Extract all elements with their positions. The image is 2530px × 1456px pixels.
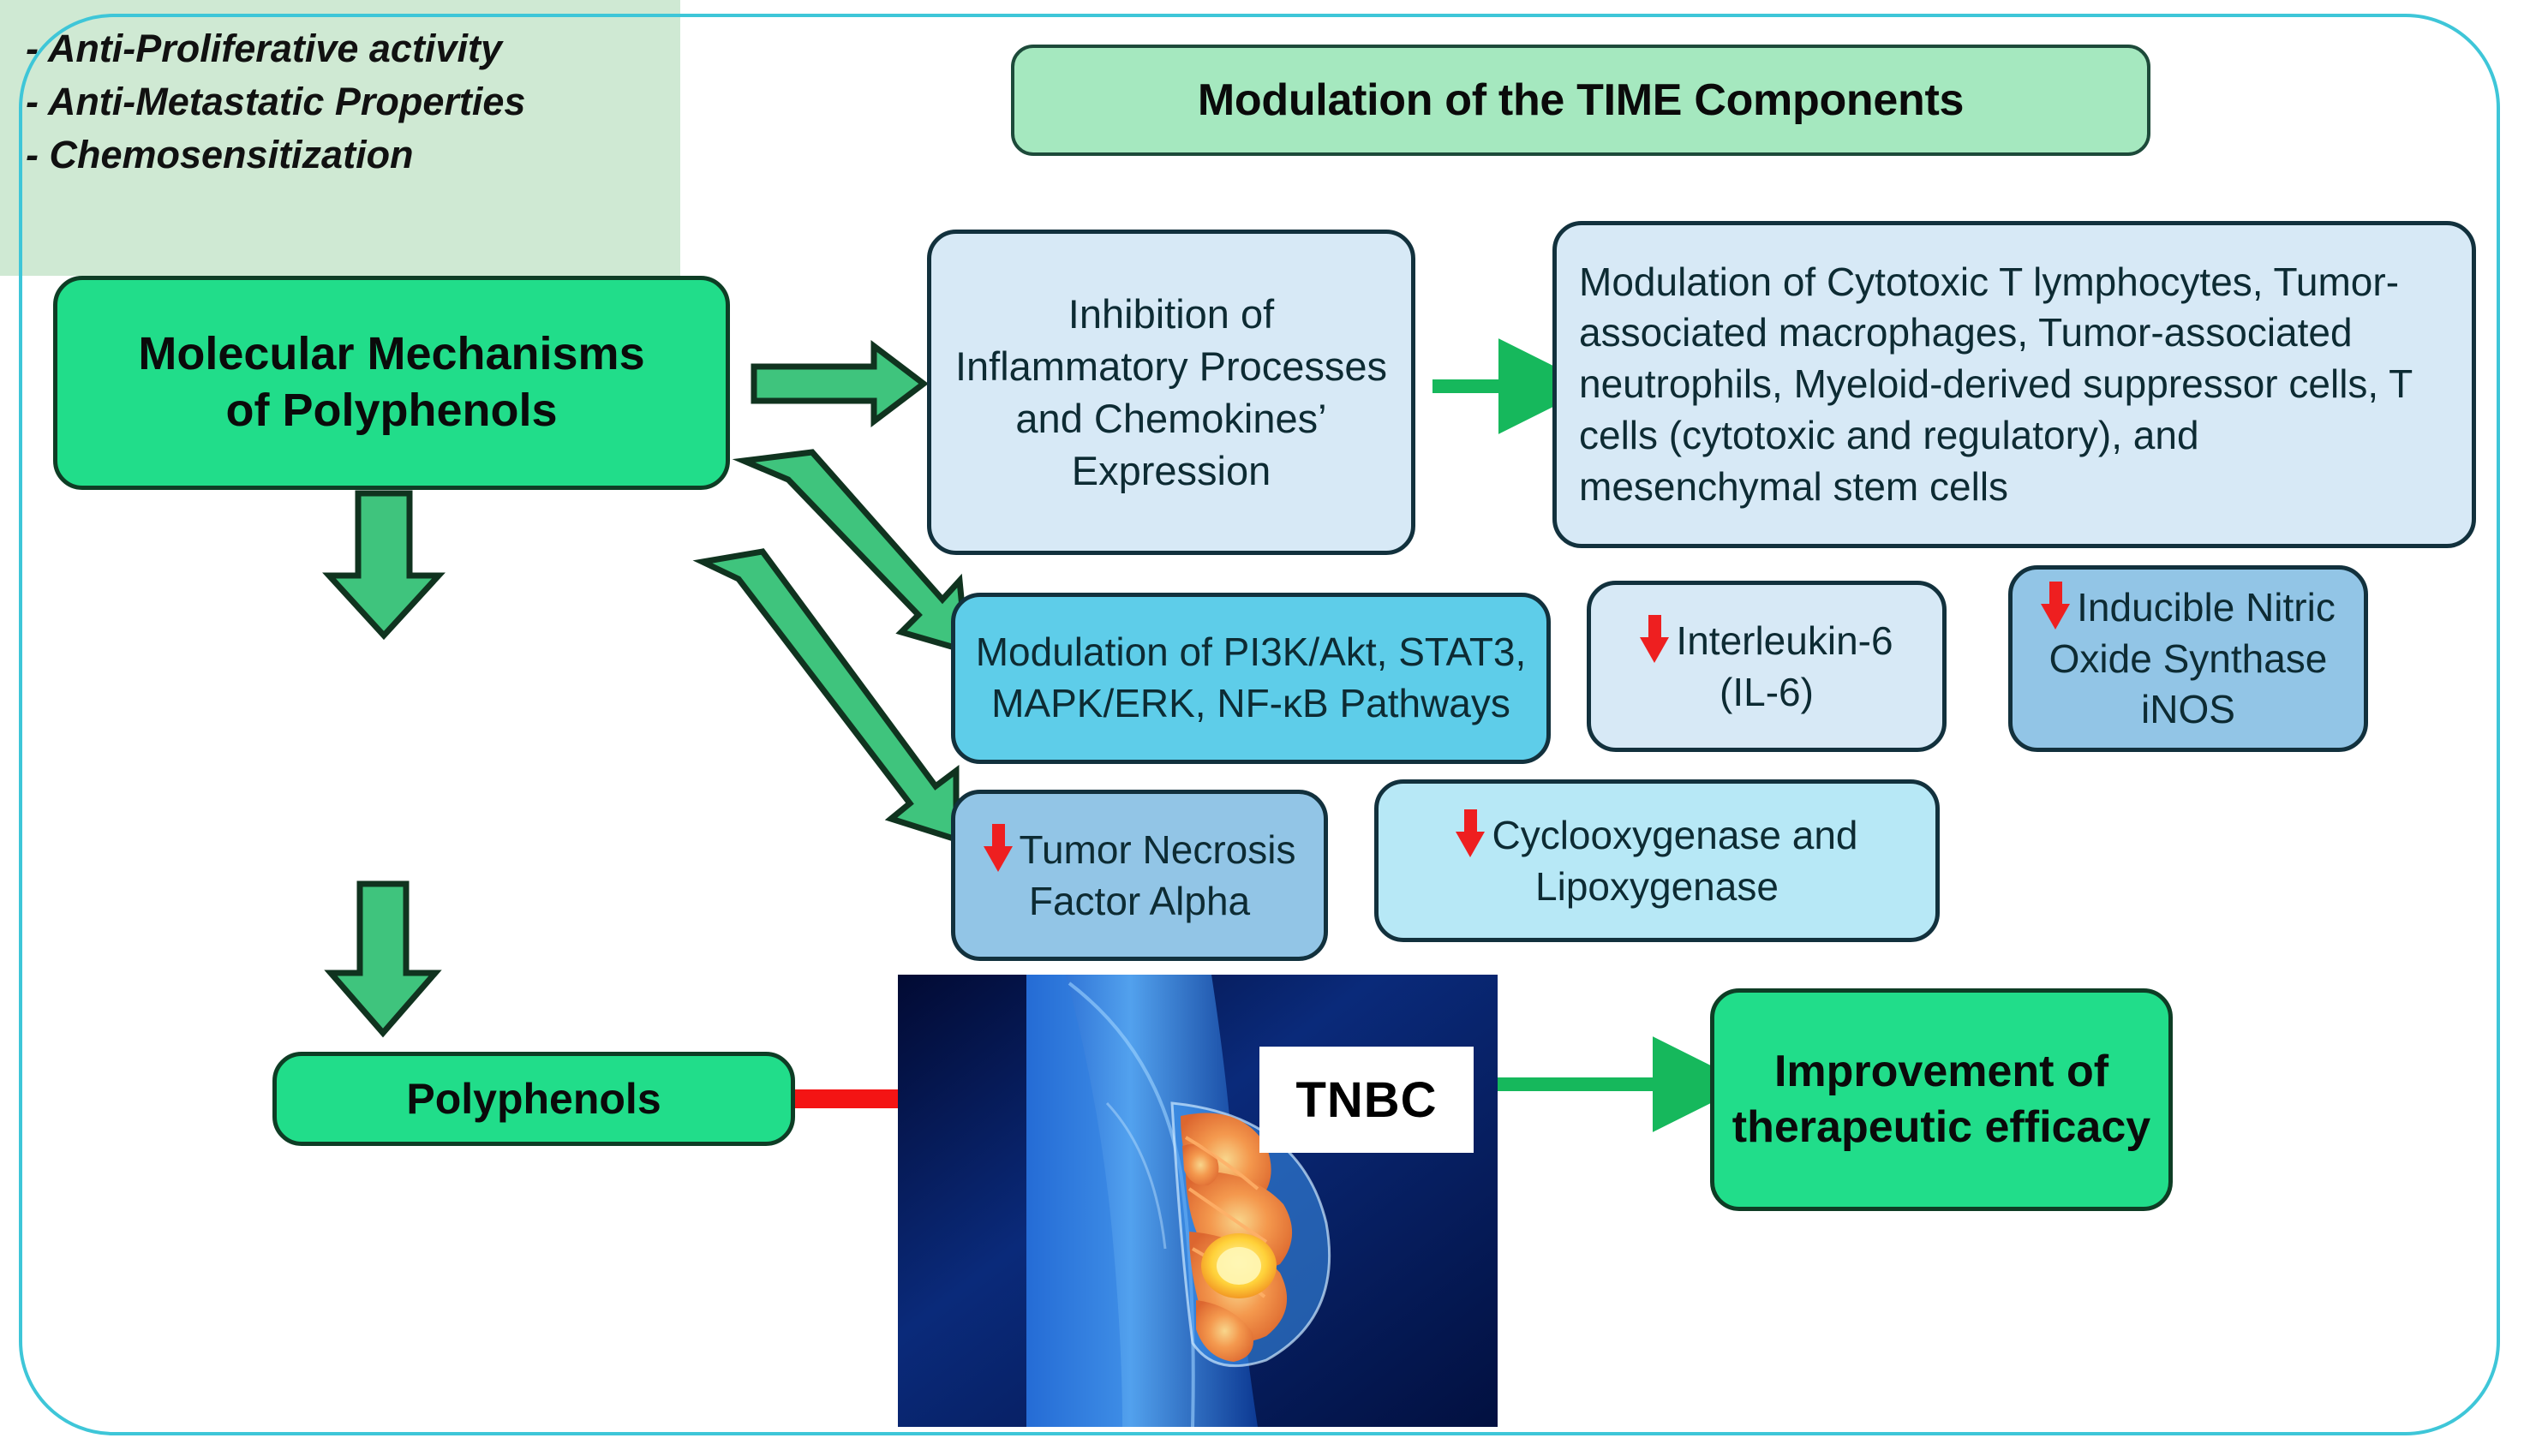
cox-lox-text: Cyclooxygenase and Lipoxygenase [1492,813,1857,909]
tnbc-breast-illustration [898,975,1498,1427]
inhibition-inflammatory-label: Inhibition of Inflammatory Processes and… [950,288,1392,497]
down-arrow-icon [1640,615,1669,663]
pathways-modulation-label: Modulation of PI3K/Akt, STAT3, MAPK/ERK,… [974,627,1528,730]
molecular-mechanisms-label: Molecular Mechanisms of Polyphenols [138,326,644,439]
inos-label: Inducible Nitric Oxide Synthase iNOS [2031,582,2345,736]
breast-anatomy-svg [898,975,1498,1427]
polyphenols-box[interactable]: Polyphenols [272,1052,795,1146]
tnf-alpha-box[interactable]: Tumor Necrosis Factor Alpha [951,790,1328,961]
interleukin6-label: Interleukin-6 (IL-6) [1610,615,1923,719]
down-arrow-icon [1456,809,1485,857]
diagram-title-text: Modulation of the TIME Components [1198,75,1964,126]
inos-text: Inducible Nitric Oxide Synthase iNOS [2049,585,2336,732]
diagram-title: Modulation of the TIME Components [1011,45,2150,156]
cox-lox-label: Cyclooxygenase and Lipoxygenase [1397,809,1917,913]
inos-box[interactable]: Inducible Nitric Oxide Synthase iNOS [2008,565,2368,752]
tnf-alpha-label: Tumor Necrosis Factor Alpha [974,824,1305,928]
tnf-alpha-text: Tumor Necrosis Factor Alpha [1020,827,1296,923]
time-components-label: Modulation of Cytotoxic T lymphocytes, T… [1579,257,2449,513]
down-arrow-icon [2041,582,2070,630]
cox-lox-box[interactable]: Cyclooxygenase and Lipoxygenase [1374,779,1940,942]
interleukin6-box[interactable]: Interleukin-6 (IL-6) [1587,581,1947,752]
tnbc-label: TNBC [1259,1047,1474,1153]
pathways-modulation-box[interactable]: Modulation of PI3K/Akt, STAT3, MAPK/ERK,… [951,593,1551,764]
improvement-efficacy-label: Improvement of therapeutic efficacy [1714,1044,2168,1155]
time-components-modulation-box[interactable]: Modulation of Cytotoxic T lymphocytes, T… [1552,221,2476,548]
tnbc-label-text: TNBC [1295,1071,1437,1129]
improvement-efficacy-box[interactable]: Improvement of therapeutic efficacy [1710,988,2173,1211]
figure-canvas: Modulation of the TIME Components Molecu… [0,0,2530,1456]
inhibition-inflammatory-box[interactable]: Inhibition of Inflammatory Processes and… [927,230,1415,555]
molecular-mechanisms-box[interactable]: Molecular Mechanisms of Polyphenols [53,276,730,490]
polyphenols-label: Polyphenols [406,1074,661,1124]
down-arrow-icon [984,824,1013,872]
interleukin6-text: Interleukin-6 (IL-6) [1676,618,1893,714]
